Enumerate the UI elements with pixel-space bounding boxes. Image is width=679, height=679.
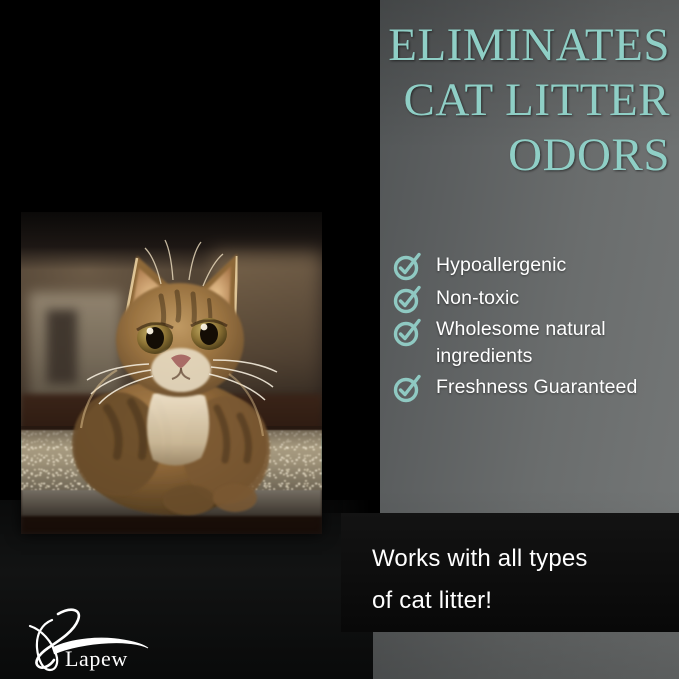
benefit-item: Hypoallergenic: [392, 250, 674, 281]
callout-text: Works with all types of cat litter!: [372, 538, 672, 622]
benefit-item: Non-toxic: [392, 283, 674, 314]
headline-line-2: CAT LITTER: [250, 73, 670, 128]
headline-line-1: ELIMINATES: [250, 18, 670, 73]
benefit-item: Wholesome natural ingredients: [392, 316, 674, 370]
benefit-item: Freshness Guaranteed: [392, 372, 674, 403]
product-advertisement: ELIMINATES CAT LITTER ODORS: [0, 0, 679, 679]
benefits-list: Hypoallergenic Non-toxic Wholesome natur…: [392, 250, 674, 405]
check-circle-icon: [392, 317, 422, 347]
callout-line-1: Works with all types: [372, 538, 672, 580]
headline-line-3: ODORS: [250, 128, 670, 183]
check-circle-icon: [392, 373, 422, 403]
kitten-illustration: [21, 212, 322, 534]
benefit-label: Freshness Guaranteed: [436, 372, 637, 402]
headline: ELIMINATES CAT LITTER ODORS: [250, 18, 670, 183]
logo-wordmark: Lapew: [65, 646, 128, 672]
check-circle-icon: [392, 284, 422, 314]
benefit-label: Non-toxic: [436, 283, 519, 313]
check-circle-icon: [392, 251, 422, 281]
kitten-litter-box-photo: [21, 212, 322, 534]
callout-line-2: of cat litter!: [372, 580, 672, 622]
benefit-label: Wholesome natural ingredients: [436, 316, 674, 370]
brand-logo: Lapew: [12, 604, 192, 674]
callout-box: Works with all types of cat litter!: [341, 513, 679, 632]
benefit-label: Hypoallergenic: [436, 250, 566, 280]
